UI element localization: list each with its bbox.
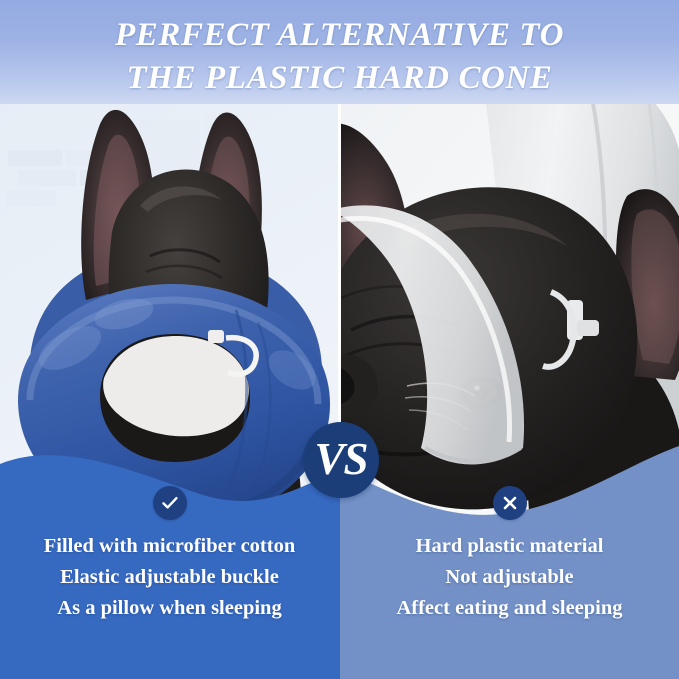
list-item: Affect eating and sleeping — [340, 593, 679, 624]
page-title: PERFECT ALTERNATIVE TO THE PLASTIC HARD … — [0, 14, 679, 99]
list-item: Filled with microfiber cotton — [0, 531, 339, 562]
right-feature-column: Hard plastic material Not adjustable Aff… — [340, 464, 679, 679]
list-item: Hard plastic material — [340, 531, 679, 562]
product-comparison-image: PERFECT ALTERNATIVE TO THE PLASTIC HARD … — [0, 0, 679, 679]
vs-label: VS — [314, 437, 367, 482]
header-band: PERFECT ALTERNATIVE TO THE PLASTIC HARD … — [0, 0, 679, 104]
list-item: Elastic adjustable buckle — [0, 562, 339, 593]
list-item: Not adjustable — [340, 562, 679, 593]
check-icon — [153, 486, 187, 520]
right-feature-list: Hard plastic material Not adjustable Aff… — [340, 531, 679, 624]
list-item: As a pillow when sleeping — [0, 593, 339, 624]
left-feature-column: Filled with microfiber cotton Elastic ad… — [0, 464, 339, 679]
left-feature-list: Filled with microfiber cotton Elastic ad… — [0, 531, 339, 624]
x-icon — [493, 486, 527, 520]
vs-badge: VS — [303, 422, 379, 498]
